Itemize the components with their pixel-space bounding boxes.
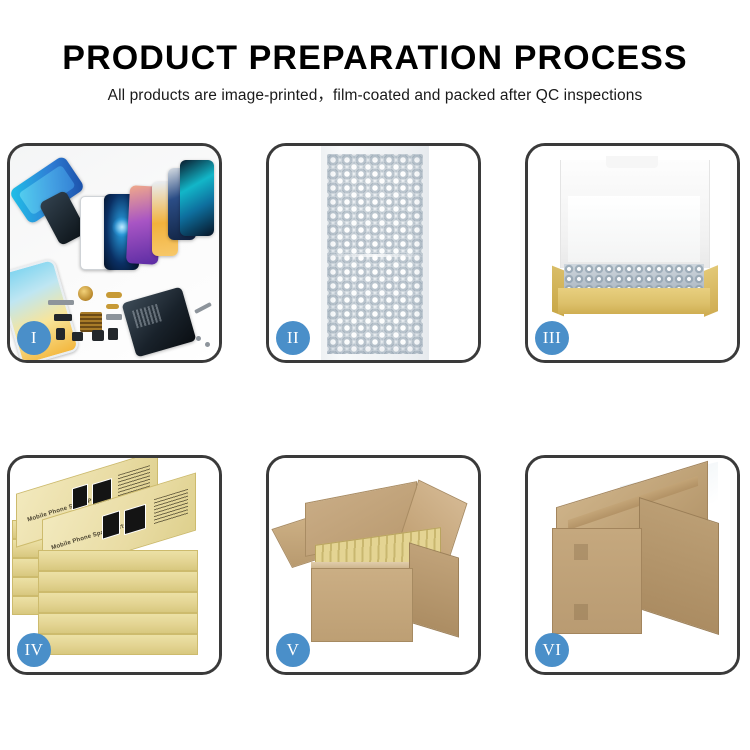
retail-box-edge <box>38 634 198 655</box>
gold-connector-part <box>106 292 122 298</box>
screw-part <box>205 342 210 347</box>
vibration-motor-part <box>78 286 93 301</box>
small-component-part <box>72 332 83 341</box>
screw-part <box>196 336 201 341</box>
small-component-part <box>92 330 104 341</box>
step-badge-6: VI <box>535 633 569 667</box>
step-panel-5: V <box>266 455 481 675</box>
step-panel-4: Mobile Phone Spare Parts Mobile Phone Sp… <box>7 455 222 675</box>
step-panel-6: VI <box>525 455 740 675</box>
carton-right-face <box>409 542 459 637</box>
retail-box-edge <box>38 592 198 613</box>
carton-handle-slot <box>574 604 588 620</box>
retail-box-edge <box>38 571 198 592</box>
carton-handle-slot <box>574 544 588 560</box>
bubble-wrap-seam <box>327 254 423 257</box>
mailer-box-lid-tab <box>606 156 658 168</box>
step-badge-2: II <box>276 321 310 355</box>
retail-box-edge <box>38 550 198 571</box>
gold-connector-part <box>106 304 119 309</box>
step-panel-2: II <box>266 143 481 363</box>
carton-front-face <box>552 528 642 634</box>
step-panel-3: III <box>525 143 740 363</box>
step-badge-5: V <box>276 633 310 667</box>
phone-screen-teal <box>180 160 214 236</box>
small-component-part <box>56 328 65 340</box>
step-badge-4: IV <box>17 633 51 667</box>
flex-cable-part <box>48 300 74 305</box>
retail-box-edge <box>38 613 198 634</box>
mailer-box-inner-panel <box>568 196 700 262</box>
step-badge-3: III <box>535 321 569 355</box>
mailer-box-front-wall <box>558 288 710 314</box>
small-component-part <box>106 314 122 320</box>
carton-front-face <box>311 568 413 642</box>
small-component-part <box>108 328 118 340</box>
process-steps-grid: I II III <box>7 143 743 676</box>
chip-array-part <box>80 312 102 332</box>
bubble-wrapped-item-inside <box>564 264 704 290</box>
page-header: PRODUCT PREPARATION PROCESS All products… <box>0 0 750 128</box>
small-component-part <box>54 314 72 321</box>
step-badge-1: I <box>17 321 51 355</box>
page-title: PRODUCT PREPARATION PROCESS <box>0 40 750 76</box>
page-subtitle: All products are image-printed，film-coat… <box>0 86 750 105</box>
step-panel-1: I <box>7 143 222 363</box>
